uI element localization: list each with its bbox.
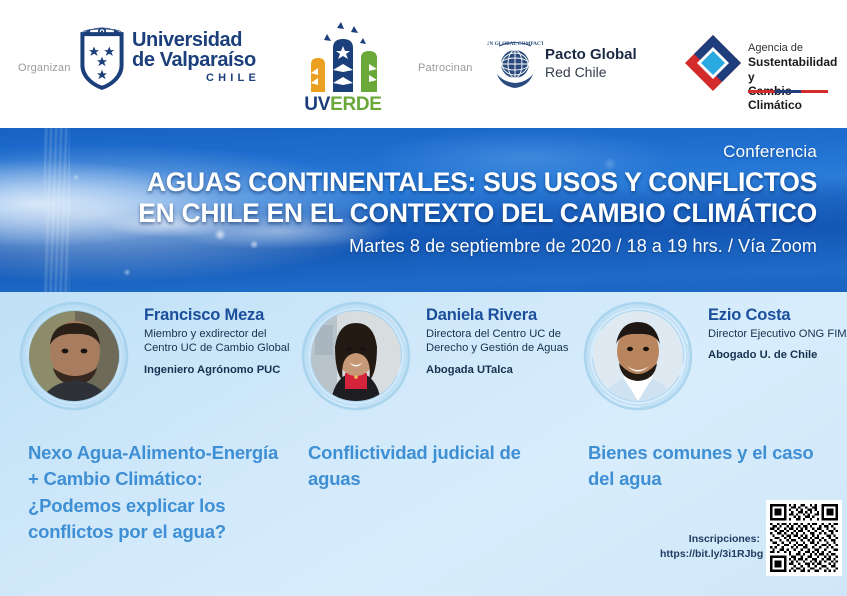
agencia-line2: Sustentabilidad y xyxy=(748,55,842,84)
registration-url[interactable]: https://bit.ly/3i1RJbg xyxy=(660,547,760,562)
uverde-part2: ERDE xyxy=(330,94,382,115)
svg-text:UN GLOBAL COMPACT: UN GLOBAL COMPACT xyxy=(487,41,543,47)
talk-title: Conflictividad judicial de aguas xyxy=(308,440,558,493)
pacto-line2: Red Chile xyxy=(545,64,637,81)
speaker-info: Francisco Meza Miembro y exdirector del … xyxy=(144,306,294,377)
registration-text: Inscripciones: https://bit.ly/3i1RJbg xyxy=(660,532,760,562)
banner-kicker: Conferencia xyxy=(0,142,817,162)
un-global-compact-globe-icon: UN GLOBAL COMPACT xyxy=(487,38,543,94)
banner-content: Conferencia AGUAS CONTINENTALES: SUS USO… xyxy=(0,142,847,257)
qr-code-icon xyxy=(770,504,838,572)
pacto-global-logo: UN GLOBAL COMPACT Pacto Global Red Chile xyxy=(487,38,637,98)
uverde-logo: UVERDE xyxy=(297,20,389,120)
universidad-valparaiso-logo: Universidad de Valparaíso CHILE xyxy=(80,26,260,104)
banner-title-line2: EN CHILE EN EL CONTEXTO DEL CAMBIO CLIMÁ… xyxy=(0,198,817,229)
speaker-photo-wrap xyxy=(582,300,694,412)
agencia-diamond-icon xyxy=(682,32,744,94)
speaker-name: Francisco Meza xyxy=(144,306,294,324)
logo-header: Organizan Un xyxy=(0,0,847,128)
speaker-photo xyxy=(311,311,401,401)
speaker-portrait-icon xyxy=(311,311,401,401)
speaker-photo-wrap xyxy=(18,300,130,412)
speaker-name: Ezio Costa xyxy=(708,306,847,324)
banner-date: Martes 8 de septiembre de 2020 / 18 a 19… xyxy=(0,236,817,257)
uv-line2: de Valparaíso xyxy=(132,50,262,70)
pacto-line1: Pacto Global xyxy=(545,46,637,64)
registration-block: Inscripciones: https://bit.ly/3i1RJbg xyxy=(660,494,840,586)
pacto-global-text: Pacto Global Red Chile xyxy=(545,46,637,81)
speaker-credential: Ingeniero Agrónomo PUC xyxy=(144,363,294,377)
speaker-credential: Abogada UTalca xyxy=(426,363,576,377)
speaker-role: Director Ejecutivo ONG FIMA xyxy=(708,327,847,341)
speakers-row: Francisco Meza Miembro y exdirector del … xyxy=(0,292,847,432)
uv-shield-icon xyxy=(80,32,124,90)
uverde-buildings-icon xyxy=(297,20,389,96)
uverde-wordmark: UVERDE xyxy=(297,94,389,116)
banner-title-line1: AGUAS CONTINENTALES: SUS USOS Y CONFLICT… xyxy=(0,167,817,198)
talk-title: Nexo Agua-Alimento-Energía + Cambio Clim… xyxy=(28,440,288,545)
speaker-card: Francisco Meza Miembro y exdirector del … xyxy=(14,300,294,428)
talk-title: Bienes comunes y el caso del agua xyxy=(588,440,828,493)
organizan-label: Organizan xyxy=(18,62,71,74)
speaker-credential: Abogado U. de Chile xyxy=(708,348,847,362)
agencia-sustentabilidad-logo: Agencia de Sustentabilidad y Cambio Clim… xyxy=(682,32,842,104)
conference-poster: Organizan Un xyxy=(0,0,847,596)
agencia-text: Agencia de Sustentabilidad y Cambio Clim… xyxy=(748,42,842,113)
uv-line1: Universidad xyxy=(132,30,262,50)
speaker-card: Daniela Rivera Directora del Centro UC d… xyxy=(296,300,576,428)
speaker-name: Daniela Rivera xyxy=(426,306,576,324)
speakers-section: Francisco Meza Miembro y exdirector del … xyxy=(0,292,847,596)
speaker-photo xyxy=(29,311,119,401)
speaker-role: Directora del Centro UC de Derecho y Ges… xyxy=(426,327,576,356)
speaker-portrait-icon xyxy=(593,311,683,401)
speaker-portrait-icon xyxy=(29,311,119,401)
title-banner: Conferencia AGUAS CONTINENTALES: SUS USO… xyxy=(0,128,847,292)
registration-label: Inscripciones: xyxy=(660,532,760,547)
speaker-role: Miembro y exdirector del Centro UC de Ca… xyxy=(144,327,294,356)
qr-code[interactable] xyxy=(766,500,842,576)
agencia-flag-rule xyxy=(748,90,828,93)
patrocinan-label: Patrocinan xyxy=(418,62,473,74)
speaker-photo xyxy=(593,311,683,401)
speaker-photo-wrap xyxy=(300,300,412,412)
banner-title: AGUAS CONTINENTALES: SUS USOS Y CONFLICT… xyxy=(0,167,817,229)
uverde-part1: UV xyxy=(304,94,330,115)
speaker-card: Ezio Costa Director Ejecutivo ONG FIMA A… xyxy=(578,300,840,428)
uv-logo-text: Universidad de Valparaíso CHILE xyxy=(132,30,262,84)
agencia-line1: Agencia de xyxy=(748,42,842,55)
agencia-line3: Cambio Climático xyxy=(748,84,842,113)
speaker-info: Daniela Rivera Directora del Centro UC d… xyxy=(426,306,576,377)
speaker-info: Ezio Costa Director Ejecutivo ONG FIMA A… xyxy=(708,306,847,363)
uv-line3: CHILE xyxy=(132,73,262,84)
